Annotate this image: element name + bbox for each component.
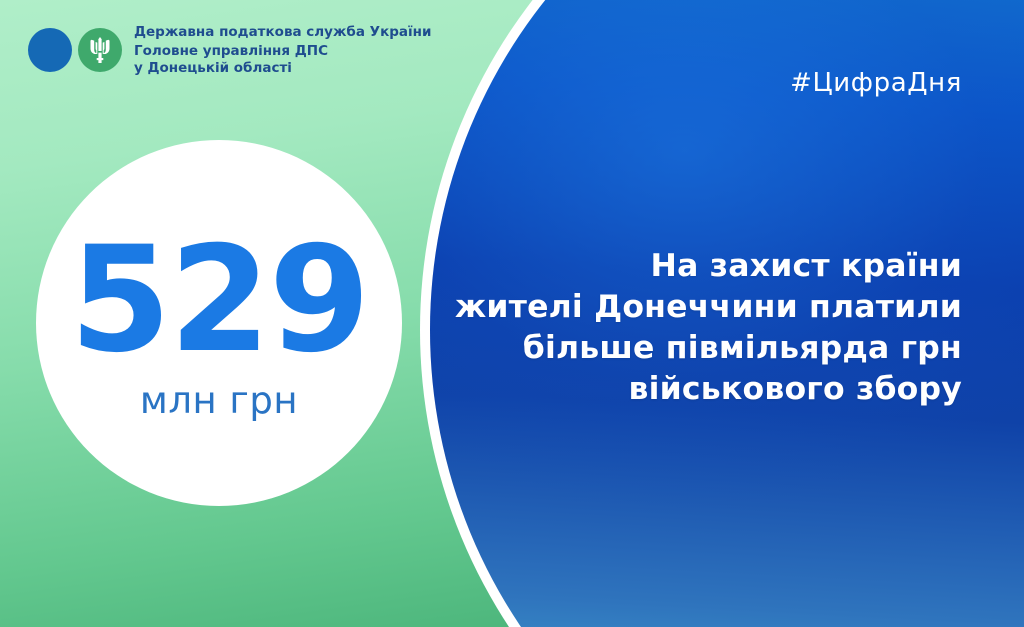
ukraine-trident-icon — [89, 36, 111, 64]
green-circle-icon — [78, 28, 122, 72]
figure-circle: 529 млн грн — [42, 146, 396, 500]
organization-logo-block: Державна податкова служба України Головн… — [28, 24, 431, 76]
headline-text: На захист країни жителі Донеччини платил… — [402, 246, 962, 410]
infographic-canvas: 529 млн грн Державна податкова служба Ук… — [0, 0, 1024, 627]
hashtag-label: #ЦифраДня — [790, 68, 962, 98]
logo-line-department: Головне управління ДПС — [134, 43, 431, 59]
logo-marks — [28, 28, 122, 72]
logo-line-region: у Донецькій області — [134, 60, 431, 76]
headline-line-3: більше півмільярда грн — [402, 328, 962, 369]
headline-line-4: військового збору — [402, 369, 962, 410]
logo-line-agency: Державна податкова служба України — [134, 24, 431, 40]
figure-unit: млн грн — [140, 382, 298, 419]
blue-circle-icon — [28, 28, 72, 72]
headline-line-1: На захист країни — [402, 246, 962, 287]
organization-name: Державна податкова служба України Головн… — [134, 24, 431, 76]
headline-line-2: жителі Донеччини платили — [402, 287, 962, 328]
figure-number: 529 — [70, 233, 369, 369]
